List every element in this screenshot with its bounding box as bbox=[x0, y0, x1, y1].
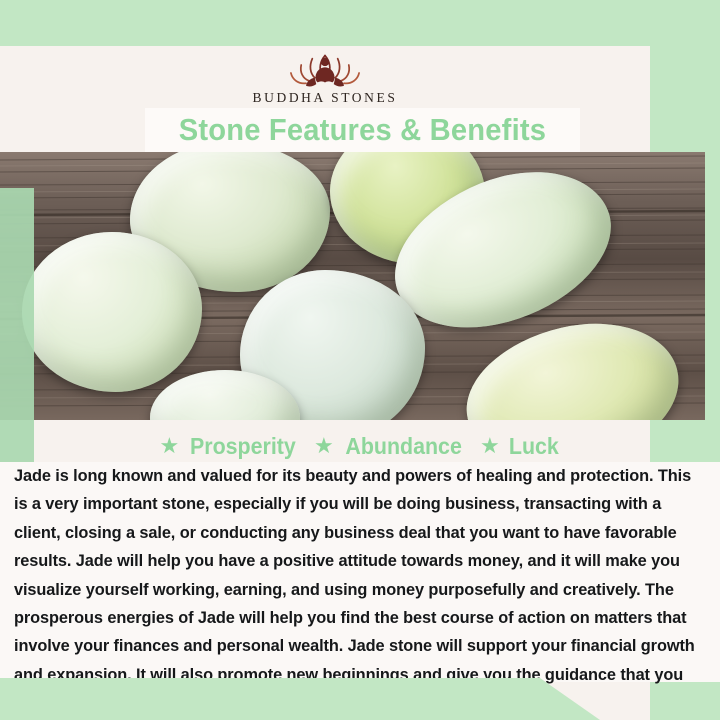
benefit-item-prosperity: ★ Prosperity bbox=[160, 433, 301, 460]
stone bbox=[22, 232, 202, 392]
benefit-item-abundance: ★ Abundance bbox=[314, 433, 466, 460]
benefit-label: Luck bbox=[509, 433, 559, 460]
star-icon: ★ bbox=[160, 435, 180, 457]
page-title: Stone Features & Benefits bbox=[179, 112, 546, 148]
benefit-item-luck: ★ Luck bbox=[480, 433, 560, 460]
infographic-page: BUDDHA STONES Stone Features & Benefits bbox=[0, 0, 720, 720]
benefit-label: Prosperity bbox=[190, 433, 296, 460]
decor-band-top bbox=[0, 0, 720, 46]
star-icon: ★ bbox=[314, 435, 334, 457]
jade-stones-photo: Jade bbox=[0, 152, 705, 420]
star-icon: ★ bbox=[480, 435, 500, 457]
benefits-row: ★ Prosperity ★ Abundance ★ Luck bbox=[0, 430, 720, 462]
description-panel: Jade is long known and valued for its be… bbox=[0, 462, 720, 682]
lotus-meditation-icon bbox=[260, 46, 390, 92]
brand-name: BUDDHA STONES bbox=[253, 90, 398, 106]
title-plate: Stone Features & Benefits bbox=[145, 108, 580, 152]
benefit-label: Abundance bbox=[345, 433, 461, 460]
brand-header: BUDDHA STONES bbox=[0, 46, 650, 106]
decor-band-bottom bbox=[0, 678, 600, 720]
